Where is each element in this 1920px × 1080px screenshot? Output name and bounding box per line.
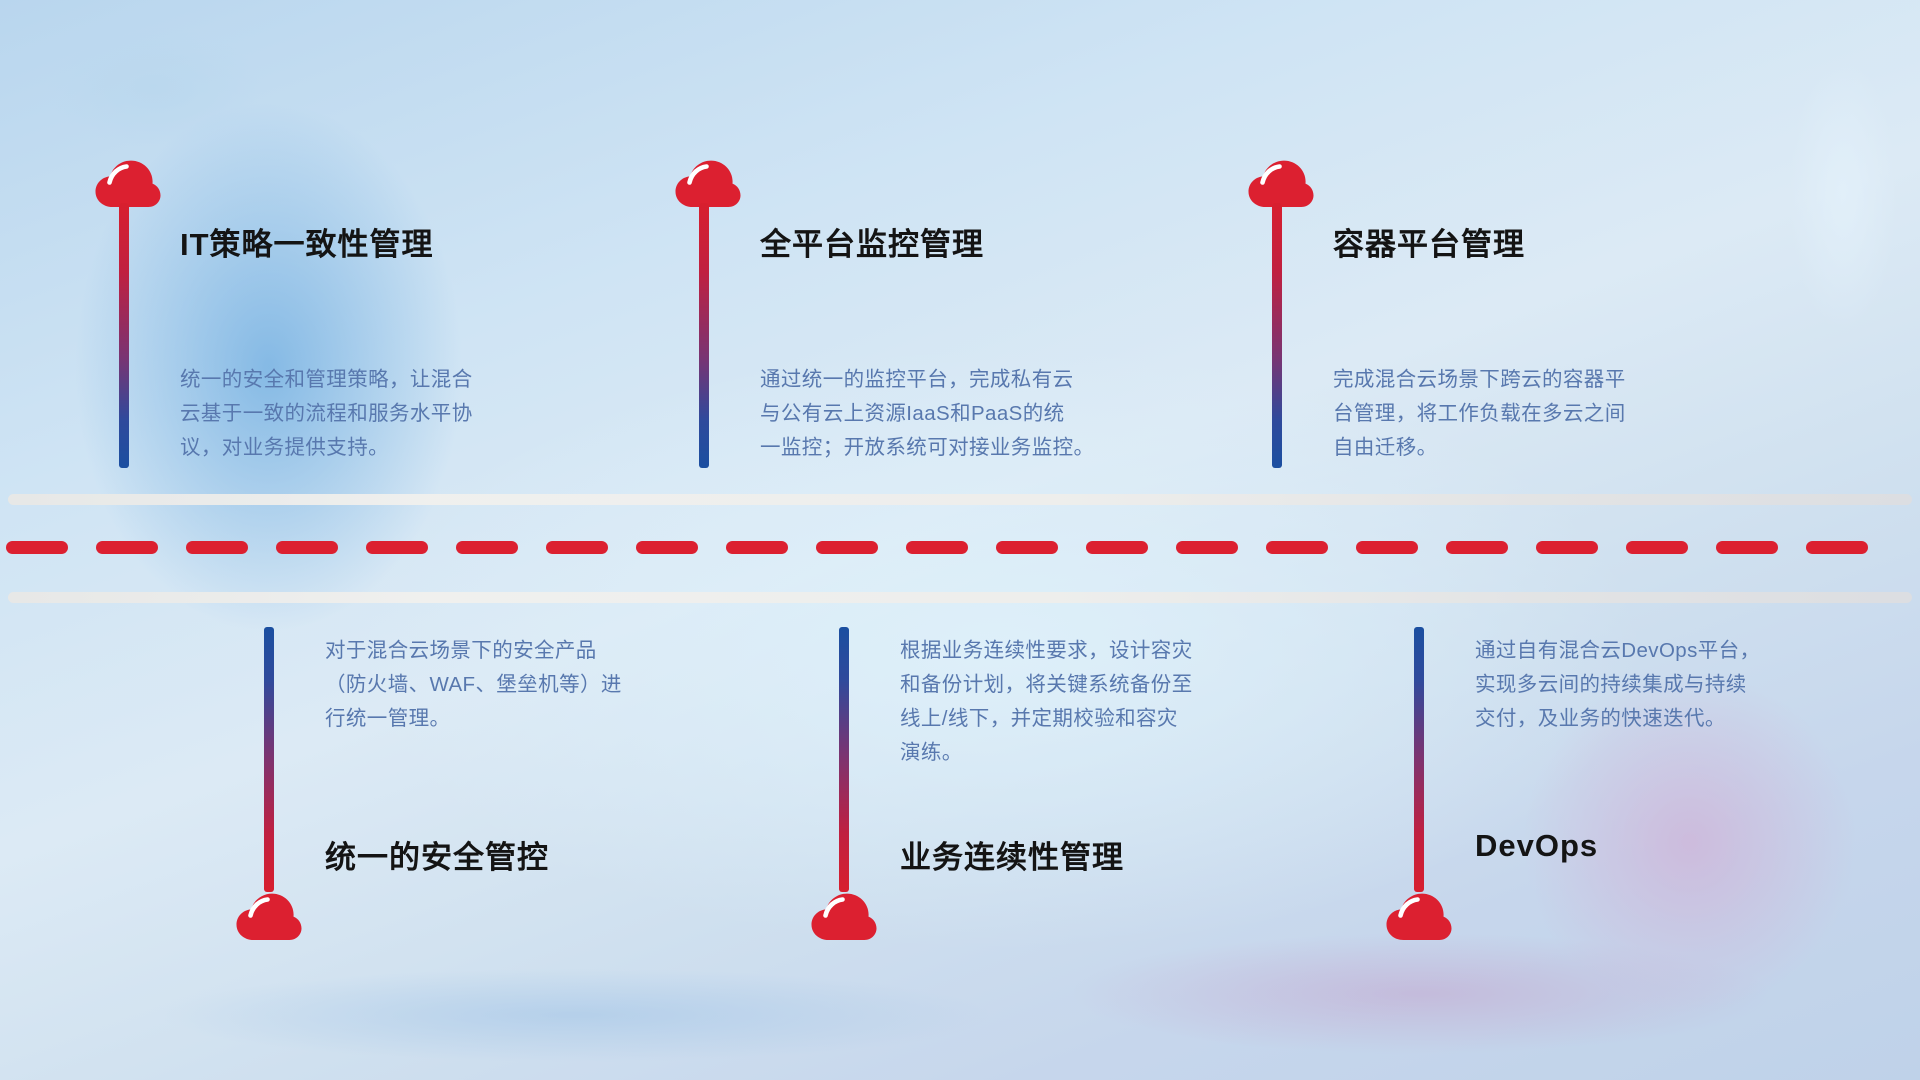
cloud-icon: [675, 160, 741, 210]
road-dash: [636, 541, 698, 554]
road-dash: [456, 541, 518, 554]
bottom-body-3: 通过自有混合云DevOps平台， 实现多云间的持续集成与持续 交付，及业务的快速…: [1475, 634, 1905, 736]
pin-stem: [264, 627, 274, 892]
cloud-icon: [236, 893, 302, 943]
top-heading-3: 容器平台管理: [1333, 219, 1525, 264]
road-dash: [1626, 541, 1688, 554]
bottom-heading-3: DevOps: [1475, 828, 1598, 864]
road-dash: [96, 541, 158, 554]
road-dash: [996, 541, 1058, 554]
road-dash: [1086, 541, 1148, 554]
cloud-icon: [1386, 893, 1452, 943]
bottom-heading-2: 业务连续性管理: [900, 832, 1124, 877]
pin-stem: [699, 203, 709, 468]
infographic-canvas: IT策略一致性管理 统一的安全和管理策略，让混合 云基于一致的流程和服务水平协 …: [0, 0, 1920, 1080]
road-dash: [726, 541, 788, 554]
bottom-body-2: 根据业务连续性要求，设计容灾 和备份计划，将关键系统备份至 线上/线下，并定期校…: [900, 634, 1330, 770]
road-dash: [1806, 541, 1868, 554]
bottom-heading-1: 统一的安全管控: [325, 832, 549, 877]
cloud-icon: [811, 893, 877, 943]
top-heading-1: IT策略一致性管理: [180, 219, 434, 264]
road-rail-top: [8, 494, 1912, 505]
top-heading-2: 全平台监控管理: [760, 219, 984, 264]
road-dash: [366, 541, 428, 554]
top-body-3: 完成混合云场景下跨云的容器平 台管理，将工作负载在多云之间 自由迁移。: [1333, 363, 1763, 465]
bottom-body-1: 对于混合云场景下的安全产品 （防火墙、WAF、堡垒机等）进 行统一管理。: [325, 634, 755, 736]
pin-stem: [839, 627, 849, 892]
road-dash: [186, 541, 248, 554]
road-dash: [1716, 541, 1778, 554]
road-dash: [1356, 541, 1418, 554]
road-center-dashes: [0, 540, 1920, 554]
road-dash: [906, 541, 968, 554]
road-dash: [6, 541, 68, 554]
top-body-2: 通过统一的监控平台，完成私有云 与公有云上资源IaaS和PaaS的统 一监控；开…: [760, 363, 1190, 465]
road-rail-bottom: [8, 592, 1912, 603]
road-dash: [546, 541, 608, 554]
top-body-1: 统一的安全和管理策略，让混合 云基于一致的流程和服务水平协 议，对业务提供支持。: [180, 363, 610, 465]
road-dash: [1446, 541, 1508, 554]
road-dash: [1266, 541, 1328, 554]
pin-stem: [1272, 203, 1282, 468]
road-dash: [1176, 541, 1238, 554]
pin-stem: [119, 203, 129, 468]
road-dash: [1536, 541, 1598, 554]
cloud-icon: [95, 160, 161, 210]
road-dash: [816, 541, 878, 554]
cloud-icon: [1248, 160, 1314, 210]
road-dash: [276, 541, 338, 554]
pin-stem: [1414, 627, 1424, 892]
